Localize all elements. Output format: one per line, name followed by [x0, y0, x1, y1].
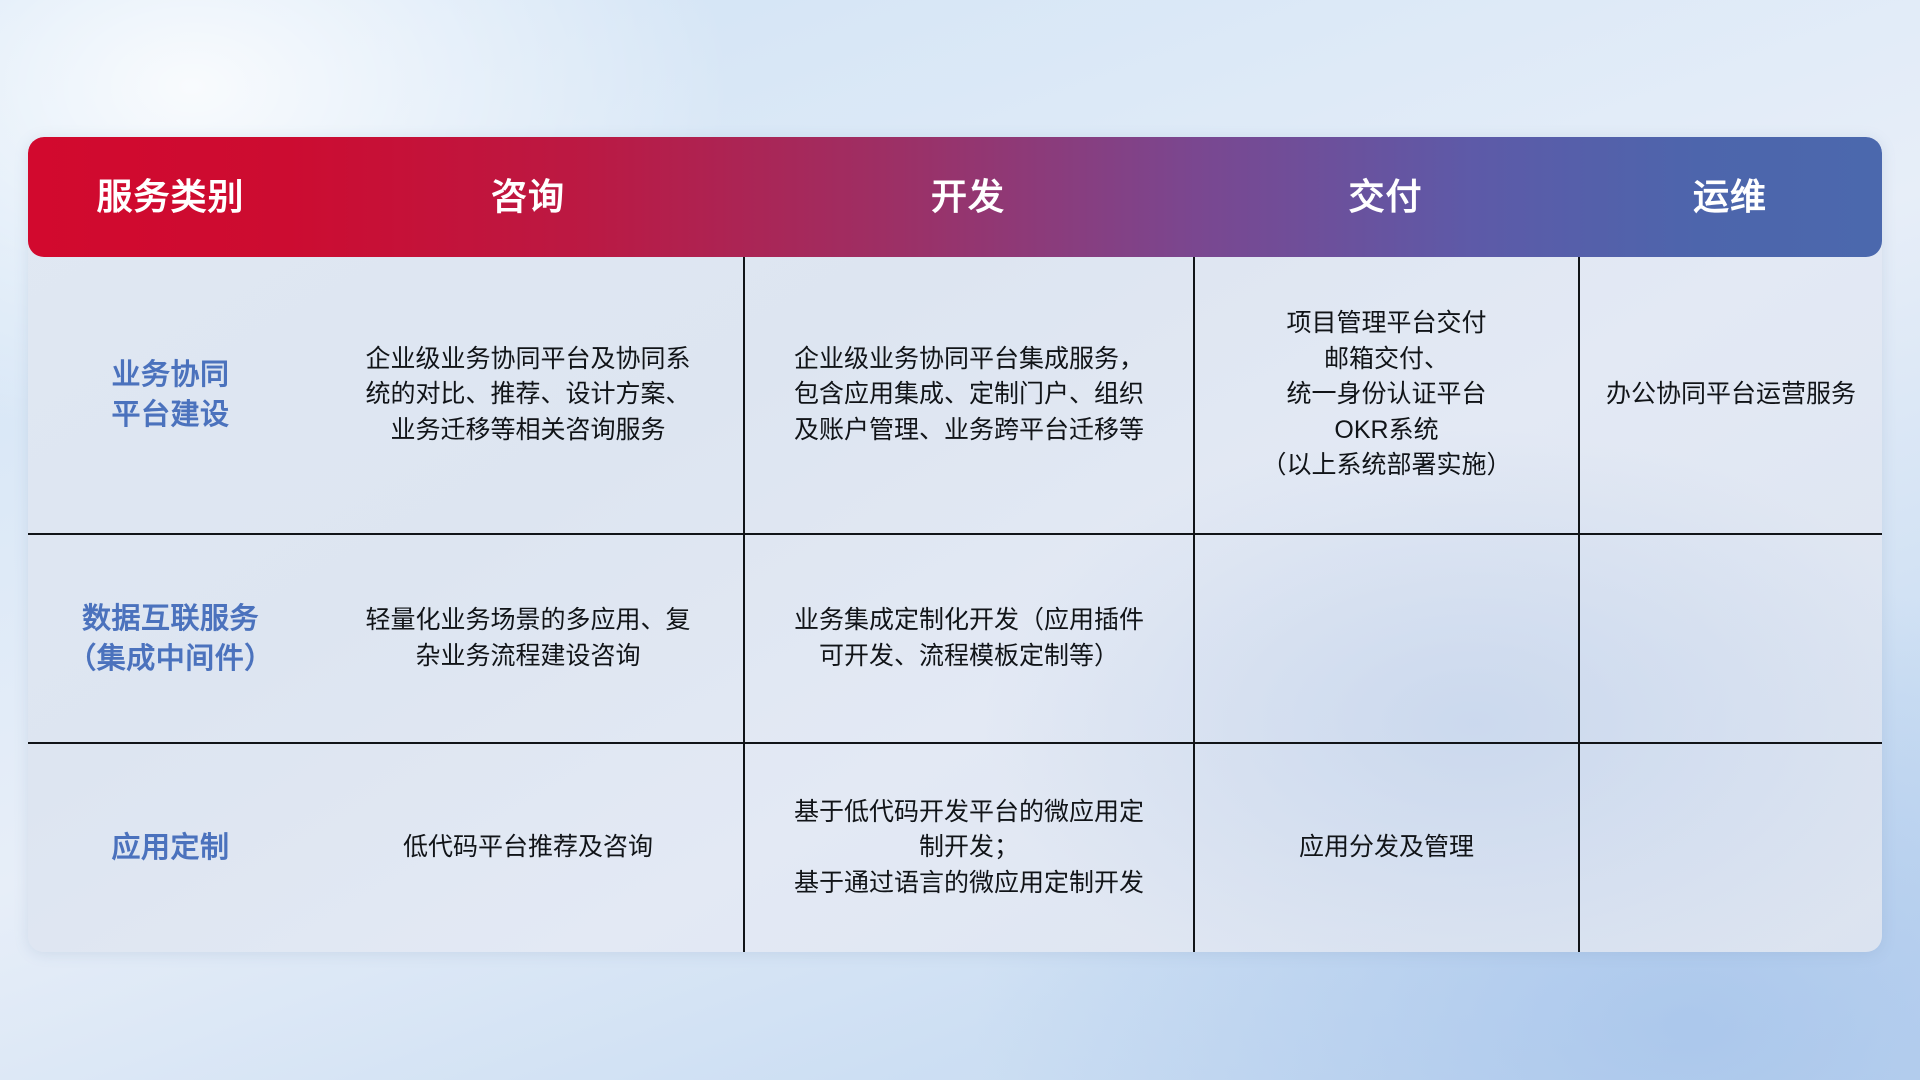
- column-header-operations: 运维: [1578, 179, 1882, 215]
- category-label: 数据互联服务 （集成中间件）: [67, 599, 274, 679]
- cell-category: 应用定制: [28, 744, 313, 952]
- cell-category: 业务协同 平台建设: [28, 257, 313, 533]
- cell-development: 企业级业务协同平台集成服务， 包含应用集成、定制门户、组织 及账户管理、业务跨平…: [743, 257, 1193, 533]
- cell-delivery: 应用分发及管理: [1193, 744, 1578, 952]
- cell-text: 低代码平台推荐及咨询: [403, 830, 653, 866]
- column-header-label: 开发: [931, 176, 1005, 217]
- slide-canvas: 服务类别 咨询 开发 交付 运维 业务协同 平台建设: [0, 0, 1920, 1080]
- cell-consulting: 企业级业务协同平台及协同系 统的对比、推荐、设计方案、 业务迁移等相关咨询服务: [313, 257, 743, 533]
- cell-text: 业务集成定制化开发（应用插件 可开发、流程模板定制等）: [794, 603, 1144, 674]
- table-header-row: 服务类别 咨询 开发 交付 运维: [28, 137, 1882, 257]
- table-row: 数据互联服务 （集成中间件） 轻量化业务场景的多应用、复 杂业务流程建设咨询 业…: [28, 535, 1882, 744]
- table-row: 业务协同 平台建设 企业级业务协同平台及协同系 统的对比、推荐、设计方案、 业务…: [28, 257, 1882, 535]
- cell-text: 基于低代码开发平台的微应用定 制开发； 基于通过语言的微应用定制开发: [794, 795, 1144, 902]
- cell-operations: 办公协同平台运营服务: [1578, 257, 1882, 533]
- cell-category: 数据互联服务 （集成中间件）: [28, 535, 313, 742]
- cell-operations: [1578, 535, 1882, 742]
- column-header-service-category: 服务类别: [28, 179, 313, 215]
- cell-operations: [1578, 744, 1882, 952]
- cell-development: 基于低代码开发平台的微应用定 制开发； 基于通过语言的微应用定制开发: [743, 744, 1193, 952]
- column-header-label: 交付: [1348, 176, 1422, 217]
- category-label: 业务协同 平台建设: [111, 355, 229, 435]
- column-header-consulting: 咨询: [313, 179, 743, 215]
- cell-text: 办公协同平台运营服务: [1606, 377, 1856, 413]
- cell-text: 企业级业务协同平台集成服务， 包含应用集成、定制门户、组织 及账户管理、业务跨平…: [794, 342, 1144, 449]
- column-header-delivery: 交付: [1193, 179, 1578, 215]
- cell-text: 企业级业务协同平台及协同系 统的对比、推荐、设计方案、 业务迁移等相关咨询服务: [365, 342, 690, 449]
- cell-development: 业务集成定制化开发（应用插件 可开发、流程模板定制等）: [743, 535, 1193, 742]
- column-header-label: 服务类别: [96, 176, 244, 217]
- cell-delivery: 项目管理平台交付 邮箱交付、 统一身份认证平台 OKR系统 （以上系统部署实施）: [1193, 257, 1578, 533]
- cell-consulting: 轻量化业务场景的多应用、复 杂业务流程建设咨询: [313, 535, 743, 742]
- cell-text: 应用分发及管理: [1299, 830, 1474, 866]
- category-label: 应用定制: [111, 828, 229, 868]
- table-row: 应用定制 低代码平台推荐及咨询 基于低代码开发平台的微应用定 制开发； 基于通过…: [28, 744, 1882, 952]
- cell-text: 项目管理平台交付 邮箱交付、 统一身份认证平台 OKR系统 （以上系统部署实施）: [1261, 306, 1511, 484]
- column-header-label: 咨询: [491, 176, 565, 217]
- table-body: 业务协同 平台建设 企业级业务协同平台及协同系 统的对比、推荐、设计方案、 业务…: [28, 257, 1882, 952]
- cell-delivery: [1193, 535, 1578, 742]
- cell-text: 轻量化业务场景的多应用、复 杂业务流程建设咨询: [365, 603, 690, 674]
- column-header-development: 开发: [743, 179, 1193, 215]
- cell-consulting: 低代码平台推荐及咨询: [313, 744, 743, 952]
- service-matrix-table: 服务类别 咨询 开发 交付 运维 业务协同 平台建设: [28, 137, 1882, 952]
- column-header-label: 运维: [1693, 176, 1767, 217]
